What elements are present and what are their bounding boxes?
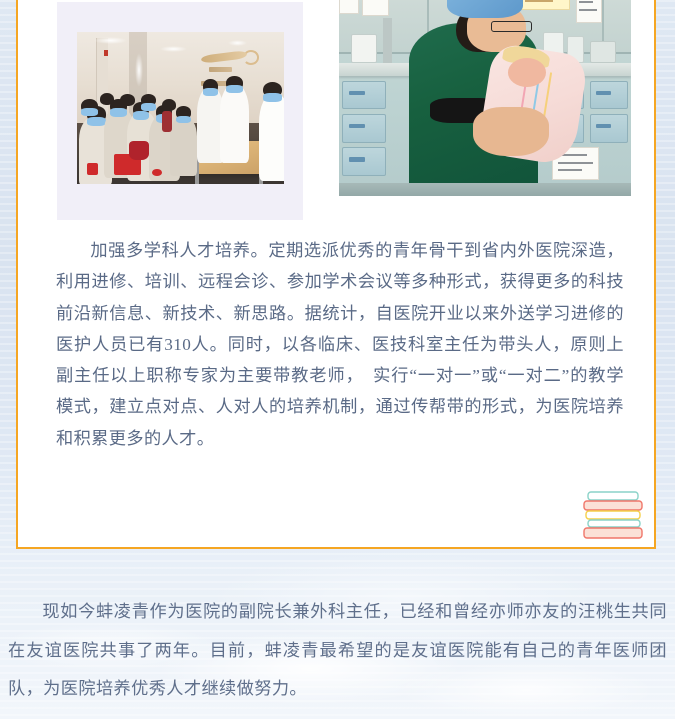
article-paragraph: 加强多学科人才培养。定期选派优秀的青年骨干到省内外医院深造，利用进修、培训、远程…	[56, 235, 624, 454]
clinic-group-photo-art	[77, 32, 284, 184]
article-card: 加强多学科人才培养。定期选派优秀的青年骨干到省内外医院深造，利用进修、培训、远程…	[16, 0, 656, 549]
nurse-newborn-photo	[339, 0, 631, 196]
article-card-inner: 加强多学科人才培养。定期选派优秀的青年骨干到省内外医院深造，利用进修、培训、远程…	[18, 0, 654, 547]
nurse-newborn-photo-art	[339, 0, 631, 196]
stacked-books-icon	[582, 488, 650, 543]
photo-row	[18, 0, 654, 235]
clinic-group-photo-mat	[57, 2, 303, 220]
clinic-group-photo	[77, 32, 284, 184]
footer-paragraph: 现如今蚌凌青作为医院的副院长兼外科主任，已经和曾经亦师亦友的汪桃生共同在友谊医院…	[8, 593, 667, 709]
